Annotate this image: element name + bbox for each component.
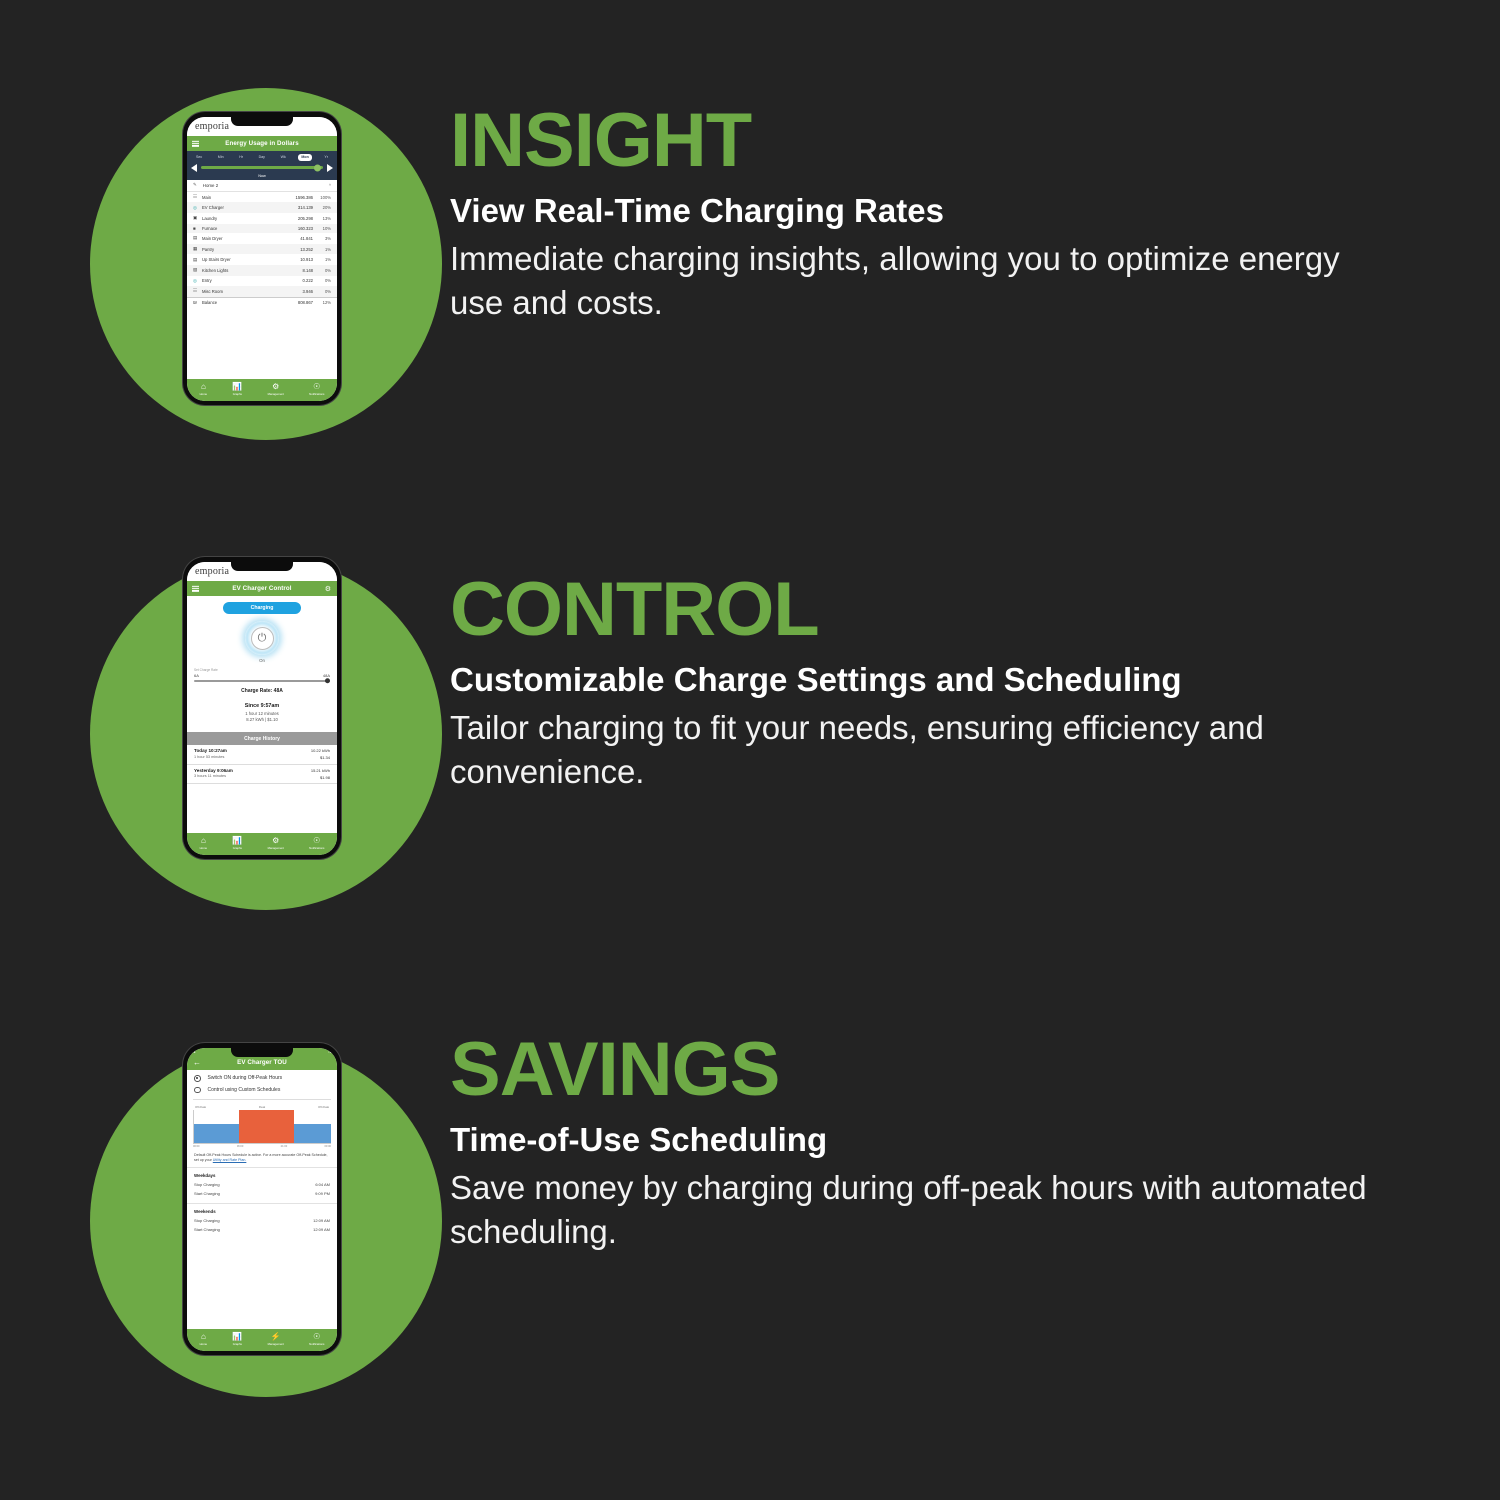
- session-usage: 8.27 kWh | $1.10: [187, 717, 337, 722]
- divider: [193, 1099, 331, 1100]
- schedule-value: 9:09 PM: [315, 1191, 330, 1196]
- device-pct: 0%: [313, 278, 331, 283]
- power-icon[interactable]: ⏻: [251, 627, 274, 650]
- spacer: [187, 1234, 337, 1329]
- device-name: Pantry: [202, 247, 287, 252]
- savings-body: Save money by charging during off-peak h…: [450, 1166, 1370, 1255]
- device-value: 41.841: [287, 236, 313, 241]
- table-row[interactable]: ▣ Laundry 205.298 13%: [187, 213, 337, 224]
- utility-rate-plan-link[interactable]: Utility and Rate Plan.: [213, 1158, 247, 1162]
- rate-knob: [325, 678, 331, 684]
- device-value: 8.148: [287, 268, 313, 273]
- nav-notifications[interactable]: ☉ Notifications: [309, 382, 324, 396]
- bar-peak: [239, 1110, 294, 1143]
- tou-title: EV Charger TOU: [237, 1059, 287, 1066]
- xtick-0: 00:00: [193, 1145, 200, 1148]
- session-since: Since 9:57am: [187, 703, 337, 709]
- xtick-3: 00:00: [324, 1145, 331, 1148]
- legend-offpeak-right: Off-Peak: [318, 1105, 329, 1109]
- range-hr[interactable]: Hr: [236, 154, 246, 161]
- list-item[interactable]: Today 10:27am 1 hour 53 minutes 10.22 kW…: [187, 745, 337, 765]
- device-pct: 0%: [313, 289, 331, 294]
- control-body-text: Tailor charging to fit your needs, ensur…: [450, 706, 1370, 795]
- phone-notch: [231, 562, 293, 571]
- nav-label: Notifications: [309, 846, 324, 850]
- nav-management[interactable]: ⚡ Management: [268, 1332, 284, 1346]
- bar-offpeak-late: [294, 1124, 331, 1143]
- list-item[interactable]: Yesterday 9:06am 3 hours 11 minutes 15.2…: [187, 765, 337, 785]
- slider-track[interactable]: [201, 166, 323, 169]
- savings-screen: ●● □■ ← EV Charger TOU Switch ON during …: [187, 1048, 337, 1351]
- device-name: Main Dryer: [202, 236, 287, 241]
- option-label: Switch ON during Off-Peak Hours: [208, 1075, 283, 1081]
- control-phone-mockup: emporia EV Charger Control ⚙ Charging ⏻: [0, 555, 450, 910]
- balance-pct: 12%: [313, 300, 331, 305]
- nav-label: Management: [268, 846, 284, 850]
- nav-label: Management: [268, 392, 284, 396]
- power-control[interactable]: ⏻ On: [187, 621, 337, 663]
- tou-body: Switch ON during Off-Peak Hours Control …: [187, 1070, 337, 1329]
- device-value: 13.252: [287, 247, 313, 252]
- session-summary: Since 9:57am 1 hour 12 minutes 8.27 kWh …: [187, 703, 337, 723]
- nav-home[interactable]: ⌂ Home: [200, 382, 207, 396]
- feature-insight: emporia Energy Usage in Dollars Sec Min …: [0, 88, 1370, 443]
- device-value: 314.139: [287, 205, 313, 210]
- tou-chart: Off-Peak Peak Off-Peak 00:00: [193, 1105, 331, 1148]
- group-label: Home 2: [203, 183, 218, 188]
- balance-label: Balance: [202, 300, 287, 305]
- time-slider[interactable]: [191, 164, 333, 172]
- history-cost: $1.98: [311, 775, 330, 780]
- range-mon[interactable]: Mon: [298, 154, 311, 161]
- feature-control: emporia EV Charger Control ⚙ Charging ⏻: [0, 555, 1370, 910]
- bar-offpeak-early: [194, 1124, 239, 1143]
- device-name: Furnace: [202, 226, 287, 231]
- home-icon: ⌂: [201, 382, 206, 391]
- device-name: Misc Room: [202, 289, 287, 294]
- bell-icon: ☉: [313, 1332, 320, 1341]
- pantry-icon: ▦: [193, 246, 202, 252]
- legend-peak: Peak: [259, 1105, 265, 1109]
- chart-icon: 📊: [232, 1332, 242, 1341]
- balance-value: 808.867: [287, 300, 313, 305]
- device-pct: 20%: [313, 205, 331, 210]
- phone-notch: [231, 117, 293, 126]
- control-title: EV Charger Control: [232, 585, 291, 592]
- savings-subtitle: Time-of-Use Scheduling: [450, 1121, 1370, 1160]
- radio-selected-icon[interactable]: [194, 1075, 201, 1082]
- range-min[interactable]: Min: [215, 154, 227, 161]
- insight-screen: emporia Energy Usage in Dollars Sec Min …: [187, 117, 337, 401]
- control-kicker: CONTROL: [450, 575, 1370, 645]
- device-group-header[interactable]: ✎ Home 2 ^: [187, 180, 337, 192]
- range-day[interactable]: Day: [256, 154, 268, 161]
- rate-min: 6A: [194, 673, 199, 678]
- device-value: 3.946: [287, 289, 313, 294]
- dryer-icon: ▤: [193, 235, 202, 241]
- schedule-value: 12:09 AM: [313, 1227, 330, 1232]
- bottom-nav: ⌂ Home 📊 Graphs ⚙ Management ☉: [187, 379, 337, 401]
- table-row[interactable]: ▤ Up Stairs Dryer 10.913 1%: [187, 254, 337, 265]
- session-duration: 1 hour 12 minutes: [187, 711, 337, 716]
- status-badge: Charging: [223, 602, 301, 614]
- device-name: Entry: [202, 278, 287, 283]
- bottom-nav: ⌂ Home 📊 Graphs ⚡ Management ☉: [187, 1329, 337, 1351]
- rate-track[interactable]: [194, 680, 330, 682]
- nav-label: Management: [268, 1342, 284, 1346]
- device-name: Main: [202, 195, 287, 200]
- nav-label: Graphs: [233, 1342, 242, 1346]
- history-cost: $1.34: [311, 755, 330, 760]
- nav-notifications[interactable]: ☉ Notifications: [309, 1332, 324, 1346]
- range-selector[interactable]: Sec Min Hr Day Wk Mon Yr: [191, 154, 333, 161]
- device-pct: 1%: [313, 247, 331, 252]
- insight-app-bar: Energy Usage in Dollars: [187, 136, 337, 151]
- history-kwh: 15.21 kWh: [311, 768, 330, 773]
- device-pct: 3%: [313, 236, 331, 241]
- control-screen: emporia EV Charger Control ⚙ Charging ⏻: [187, 562, 337, 855]
- chart-icon: 📊: [232, 836, 242, 845]
- schedule-label: Stop Charging: [194, 1182, 220, 1187]
- promo-page: emporia Energy Usage in Dollars Sec Min …: [0, 0, 1500, 1500]
- schedule-row[interactable]: Stop Charging 12:09 AM: [187, 1216, 337, 1225]
- gear-icon[interactable]: ⚙: [325, 585, 331, 593]
- nav-graphs[interactable]: 📊 Graphs: [232, 1332, 242, 1346]
- radio-unselected-icon[interactable]: [194, 1087, 201, 1094]
- savings-kicker: SAVINGS: [450, 1035, 1370, 1105]
- chevron-up-icon[interactable]: ^: [329, 183, 331, 188]
- misc-room-icon: ☷: [193, 288, 202, 294]
- phone-frame: ●● □■ ← EV Charger TOU Switch ON during …: [183, 1043, 341, 1355]
- bottom-nav: ⌂ Home 📊 Graphs ⚙ Management ☉: [187, 833, 337, 855]
- slider-knob: [314, 164, 321, 171]
- insight-subtitle: View Real-Time Charging Rates: [450, 192, 1370, 231]
- device-pct: 10%: [313, 226, 331, 231]
- chart-x-axis: 00:00 06:00 21:00 00:00: [193, 1145, 331, 1148]
- rate-caption: Set Charge Rate: [194, 668, 330, 672]
- power-glow: ⏻: [245, 621, 279, 655]
- nav-management[interactable]: ⚙ Management: [268, 382, 284, 396]
- back-arrow-icon[interactable]: ←: [193, 1058, 201, 1067]
- history-when: Yesterday 9:06am: [194, 768, 233, 773]
- schedule-label: Stop Charging: [194, 1218, 220, 1223]
- device-name: Up Stairs Dryer: [202, 257, 287, 262]
- xtick-1: 06:00: [237, 1145, 244, 1148]
- control-app-bar: EV Charger Control ⚙: [187, 581, 337, 596]
- insight-title: Energy Usage in Dollars: [225, 140, 298, 147]
- status-left: ●●: [192, 1050, 196, 1054]
- device-name: EV Charger: [202, 205, 287, 210]
- hamburger-icon[interactable]: [192, 584, 199, 592]
- savings-text: SAVINGS Time-of-Use Scheduling Save mone…: [450, 1015, 1370, 1255]
- option-label: Control using Custom Schedules: [208, 1087, 281, 1093]
- management-icon: ⚡: [271, 1332, 281, 1341]
- device-pct: 100%: [313, 195, 331, 200]
- schedule-value: 12:09 AM: [313, 1218, 330, 1223]
- device-pct: 13%: [313, 216, 331, 221]
- tou-note: Default Off-Peak Hours Schedule is activ…: [187, 1148, 337, 1163]
- nav-graphs[interactable]: 📊 Graphs: [232, 836, 242, 850]
- table-row[interactable]: ☷ Main 1596.386 100%: [187, 192, 337, 203]
- kitchen-lights-icon: ▧: [193, 267, 202, 273]
- table-row[interactable]: ■ Furnace 160.323 10%: [187, 224, 337, 234]
- device-value: 1596.386: [287, 195, 313, 200]
- device-pct: 0%: [313, 268, 331, 273]
- option-offpeak[interactable]: Switch ON during Off-Peak Hours: [187, 1070, 337, 1082]
- nav-notifications[interactable]: ☉ Notifications: [309, 836, 324, 850]
- nav-home[interactable]: ⌂ Home: [200, 836, 207, 850]
- history-duration: 3 hours 11 minutes: [194, 774, 233, 778]
- control-subtitle: Customizable Charge Settings and Schedul…: [450, 661, 1370, 700]
- nav-label: Graphs: [233, 392, 242, 396]
- chart-canvas: [193, 1110, 331, 1144]
- schedule-row[interactable]: Stop Charging 6:04 AM: [187, 1180, 337, 1189]
- nav-graphs[interactable]: 📊 Graphs: [232, 382, 242, 396]
- device-value: 10.913: [287, 257, 313, 262]
- xtick-2: 21:00: [281, 1145, 288, 1148]
- control-body: Charging ⏻ On Set Charge Rate 6A 48A: [187, 596, 337, 833]
- rate-current: Charge Rate: 48A: [194, 688, 330, 694]
- schedule-row[interactable]: Start Charging 9:09 PM: [187, 1189, 337, 1198]
- device-value: 0.222: [287, 278, 313, 283]
- range-yr[interactable]: Yr: [321, 154, 331, 161]
- history-kwh: 10.22 kWh: [311, 748, 330, 753]
- insight-body: Immediate charging insights, allowing yo…: [450, 237, 1370, 326]
- upstairs-dryer-icon: ▤: [193, 257, 202, 263]
- charge-rate-slider[interactable]: Set Charge Rate 6A 48A Charge Rate: 48A: [187, 663, 337, 694]
- option-custom[interactable]: Control using Custom Schedules: [187, 1082, 337, 1094]
- hamburger-icon[interactable]: [192, 139, 199, 147]
- status-right: □■: [328, 1050, 332, 1054]
- emporia-logo: emporia: [195, 121, 229, 132]
- pencil-icon[interactable]: ✎: [193, 182, 197, 188]
- control-text: CONTROL Customizable Charge Settings and…: [450, 555, 1370, 795]
- management-icon: ⚙: [272, 382, 279, 391]
- nav-management[interactable]: ⚙ Management: [268, 836, 284, 850]
- nav-label: Home: [200, 846, 207, 850]
- device-pct: 1%: [313, 257, 331, 262]
- home-icon: ⌂: [201, 1332, 206, 1341]
- device-value: 160.323: [287, 226, 313, 231]
- furnace-icon: ■: [193, 226, 202, 231]
- next-arrow-icon[interactable]: [327, 164, 333, 172]
- range-wk[interactable]: Wk: [278, 154, 289, 161]
- tou-app-bar: ← EV Charger TOU: [187, 1055, 337, 1070]
- schedule-row[interactable]: Start Charging 12:09 AM: [187, 1225, 337, 1234]
- table-row[interactable]: ◎ EV Charger 314.139 20%: [187, 202, 337, 213]
- balance-icon: ₪: [193, 300, 202, 305]
- schedule-label: Start Charging: [194, 1191, 220, 1196]
- home-icon: ⌂: [201, 836, 206, 845]
- weekdays-header: Weekdays: [187, 1167, 337, 1180]
- range-panel: Sec Min Hr Day Wk Mon Yr: [187, 151, 337, 180]
- laundry-icon: ▣: [193, 215, 202, 221]
- emporia-logo: emporia: [195, 566, 229, 577]
- phone-frame: emporia Energy Usage in Dollars Sec Min …: [183, 112, 341, 405]
- table-row[interactable]: ▧ Kitchen Lights 8.148 0%: [187, 265, 337, 276]
- table-row[interactable]: ▦ Pantry 13.252 1%: [187, 244, 337, 255]
- chart-icon: 📊: [232, 382, 242, 391]
- device-value: 205.298: [287, 216, 313, 221]
- schedule-label: Start Charging: [194, 1227, 220, 1232]
- device-list: ✎ Home 2 ^ ☷ Main 1596.386 100% ◎ E: [187, 180, 337, 379]
- bell-icon: ☉: [313, 382, 320, 391]
- management-icon: ⚙: [272, 836, 279, 845]
- table-row[interactable]: ☷ Misc Room 3.946 0%: [187, 286, 337, 297]
- table-row[interactable]: ◎ Entry 0.222 0%: [187, 276, 337, 287]
- range-sec[interactable]: Sec: [193, 154, 205, 161]
- history-duration: 1 hour 53 minutes: [194, 755, 227, 759]
- entry-icon: ◎: [193, 278, 202, 284]
- prev-arrow-icon[interactable]: [191, 164, 197, 172]
- phone-frame: emporia EV Charger Control ⚙ Charging ⏻: [183, 557, 341, 859]
- charge-history-header: Charge History: [187, 732, 337, 745]
- main-icon: ☷: [193, 194, 202, 200]
- feature-savings: ●● □■ ← EV Charger TOU Switch ON during …: [0, 1015, 1370, 1370]
- nav-label: Home: [200, 392, 207, 396]
- slider-label: Now: [191, 174, 333, 178]
- phone-notch: [231, 1048, 293, 1057]
- ev-charger-icon: ◎: [193, 205, 202, 211]
- nav-label: Graphs: [233, 846, 242, 850]
- insight-phone-mockup: emporia Energy Usage in Dollars Sec Min …: [0, 88, 450, 443]
- nav-label: Notifications: [309, 1342, 324, 1346]
- insight-kicker: INSIGHT: [450, 106, 1370, 176]
- nav-label: Home: [200, 1342, 207, 1346]
- nav-home[interactable]: ⌂ Home: [200, 1332, 207, 1346]
- table-row[interactable]: ▤ Main Dryer 41.841 3%: [187, 233, 337, 244]
- balance-row: ₪ Balance 808.867 12%: [187, 297, 337, 308]
- device-name: Kitchen Lights: [202, 268, 287, 273]
- device-name: Laundry: [202, 216, 287, 221]
- insight-text: INSIGHT View Real-Time Charging Rates Im…: [450, 88, 1370, 326]
- history-when: Today 10:27am: [194, 748, 227, 753]
- schedule-value: 6:04 AM: [315, 1182, 330, 1187]
- legend-offpeak-left: Off-Peak: [195, 1105, 206, 1109]
- savings-phone-mockup: ●● □■ ← EV Charger TOU Switch ON during …: [0, 1015, 450, 1370]
- nav-label: Notifications: [309, 392, 324, 396]
- weekends-header: Weekends: [187, 1203, 337, 1216]
- bell-icon: ☉: [313, 836, 320, 845]
